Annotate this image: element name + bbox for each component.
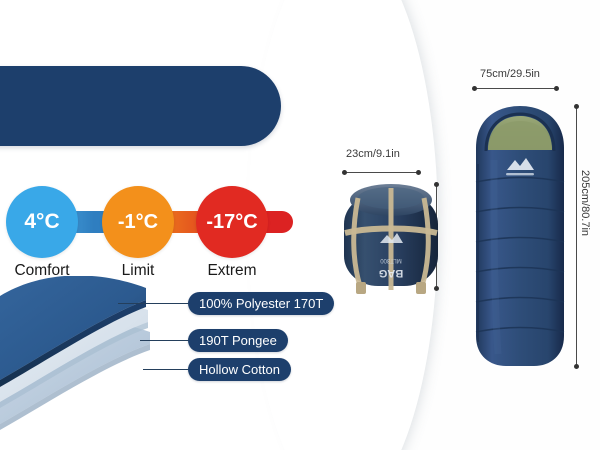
sleeping-bag-illustration [464, 104, 576, 370]
bag-height-arrow-line [576, 106, 577, 368]
compression-sack-illustration: BAG MLT300 [340, 178, 442, 300]
sack-brand-text: BAG [379, 267, 403, 279]
bag-width-arrow-cap-right [554, 86, 559, 91]
sack-width-arrow-cap-right [416, 170, 421, 175]
temperature-value-extreme: -17°C [206, 211, 257, 234]
sack-width-arrow-line [344, 172, 420, 173]
callout-leader-polyester [118, 303, 190, 304]
fabric-layers-svg [0, 276, 205, 436]
fabric-layer-illustration [0, 276, 205, 436]
temperature-badge-extreme: -17°C [196, 186, 268, 258]
callout-leader-hollow-cotton [143, 369, 190, 370]
temperature-badge-limit: -1°C [102, 186, 174, 258]
callout-pill-pongee: 190T Pongee [188, 329, 288, 352]
callout-label-polyester: 100% Polyester 170T [199, 296, 323, 311]
bag-width-dimension: 75cm/29.5in [480, 68, 540, 80]
callout-label-pongee: 190T Pongee [199, 333, 277, 348]
sack-width-dimension: 23cm/9.1in [346, 148, 400, 160]
callout-leader-pongee [140, 340, 190, 341]
temperature-rating-scale: 4°C -1°C -17°C Comfort Limit Extrem [0, 186, 300, 276]
callout-pill-polyester: 100% Polyester 170T [188, 292, 334, 315]
temperature-value-limit: -1°C [118, 211, 158, 234]
bag-width-arrow-line [474, 88, 558, 89]
bag-width-arrow-cap-left [472, 86, 477, 91]
callout-pill-hollow-cotton: Hollow Cotton [188, 358, 291, 381]
callout-label-hollow-cotton: Hollow Cotton [199, 362, 280, 377]
title-line-1: Ultralight 4 Season [28, 12, 278, 39]
compression-sack-figure: 23cm/9.1in 35cm/13.8in [330, 150, 465, 305]
sack-width-arrow-cap-left [342, 170, 347, 175]
title-banner [0, 66, 281, 146]
product-infographic: Ultralight 4 Season Sleeping Bag 4°C -1°… [0, 0, 600, 450]
bag-height-dimension: 205cm/80.7in [579, 170, 591, 236]
sack-model-text: MLT300 [380, 257, 402, 263]
title-line-2: Sleeping Bag [28, 39, 278, 66]
sleeping-bag-figure: 75cm/29.5in 205cm/80.7in [452, 62, 600, 392]
page-title: Ultralight 4 Season Sleeping Bag [28, 12, 278, 67]
temperature-value-comfort: 4°C [24, 210, 59, 234]
temperature-badge-comfort: 4°C [6, 186, 78, 258]
